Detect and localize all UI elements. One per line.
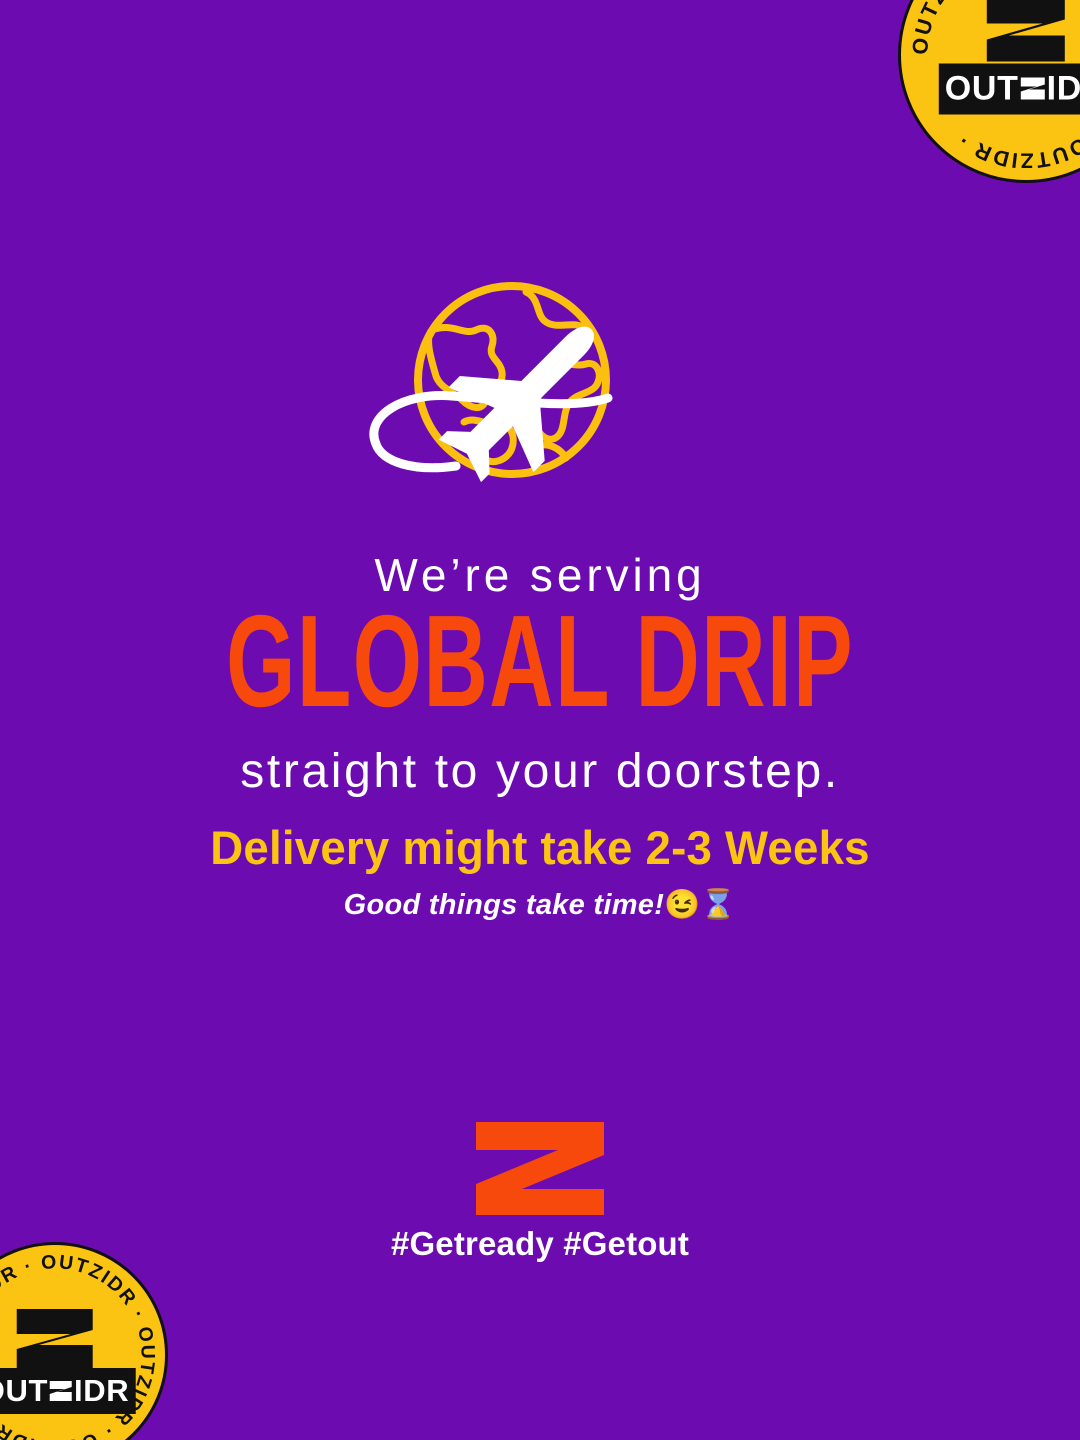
badge-wordmark-part1: OUT	[945, 72, 1019, 106]
promo-poster: OUTZIDR · OUTZIDR · OUTZIDR · OUTZIDR · …	[0, 0, 1080, 1440]
badge-wordmark-tr: OUTIDR	[939, 64, 1080, 115]
footer-hashtags: #Getready #Getout	[391, 1227, 689, 1260]
outzidr-badge-bottom-left: OUTZIDR · OUTZIDR · OUTZIDR · OUTZIDR · …	[0, 1242, 168, 1440]
badge-wordmark-bl-part1: OUT	[0, 1375, 48, 1406]
badge-wordmark-bl-part2: IDR	[74, 1375, 129, 1406]
delivery-main-text: Delivery might take 2-3 Weeks	[16, 822, 1064, 874]
delivery-sub-label: Good things take time!	[344, 889, 665, 921]
globe-airplane-icon	[360, 276, 720, 502]
wordmark-z-icon-bl	[49, 1379, 73, 1403]
outzidr-z-mark-icon	[476, 1122, 604, 1215]
copy-headline: GLOBAL DRIP	[16, 597, 1064, 728]
delivery-notice-block: Delivery might take 2-3 Weeks Good thing…	[0, 822, 1080, 922]
wordmark-z-icon-tr	[1020, 76, 1046, 102]
headline-copy-block: We’re serving GLOBAL DRIP straight to yo…	[0, 548, 1080, 801]
delivery-sub-emoji: 😉⌛	[664, 889, 736, 921]
outzidr-z-mark-icon-bl	[15, 1308, 95, 1370]
badge-core-bottom-left: OUTIDR	[0, 1308, 135, 1414]
badge-wordmark-bl: OUTIDR	[0, 1368, 135, 1414]
badge-wordmark-part2: IDR	[1047, 72, 1080, 106]
outzidr-z-mark-icon-tr	[983, 0, 1069, 64]
footer-block: #Getready #Getout	[0, 1122, 1080, 1260]
badge-core-top-right: OUTIDR	[939, 0, 1080, 115]
copy-line-doorstep: straight to your doorstep.	[0, 744, 1080, 801]
delivery-sub-text: Good things take time!😉⌛	[0, 888, 1080, 923]
outzidr-badge-top-right: OUTZIDR · OUTZIDR · OUTZIDR · OUTZIDR · …	[898, 0, 1080, 183]
